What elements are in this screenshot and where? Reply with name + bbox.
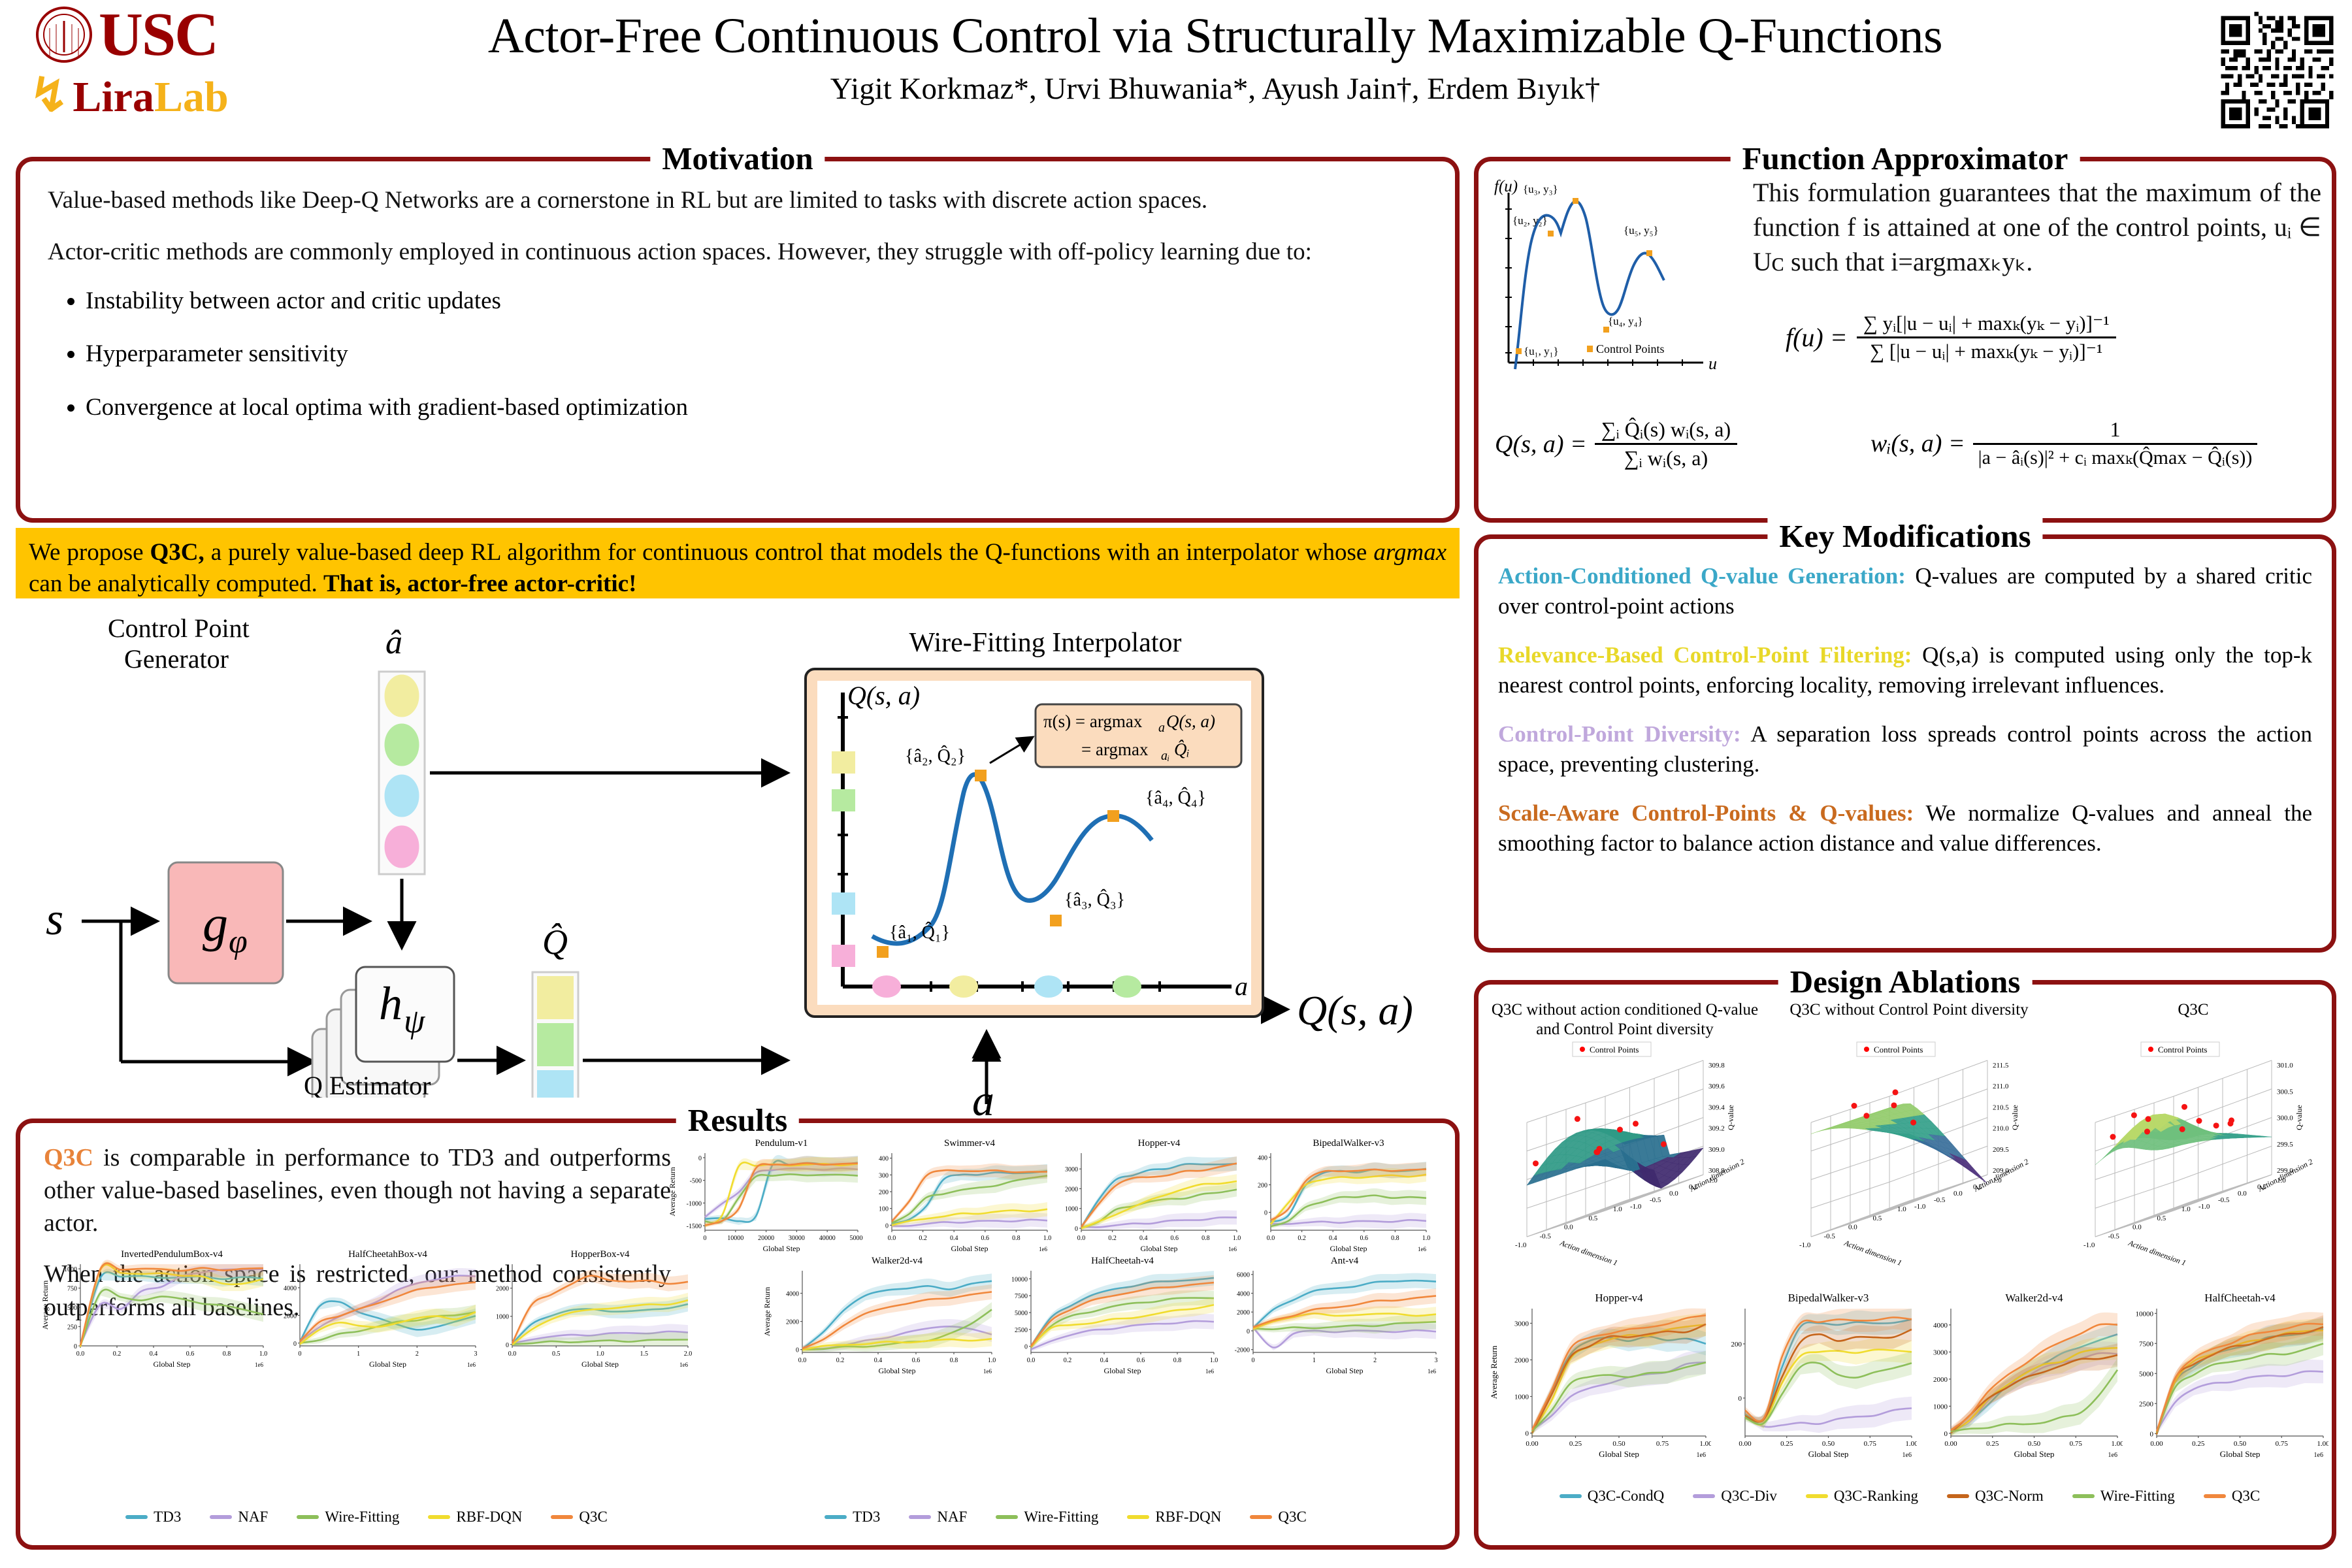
key-modifications-title: Key Modifications [1767, 517, 2042, 555]
legend-label: NAF [238, 1509, 268, 1526]
ablation-legend-item: Q3C-Norm [1947, 1488, 2044, 1505]
legend-color-swatch [1806, 1494, 1828, 1498]
surface-3d-plot: Control Points301.0300.5300.0299.5299.0Q… [2056, 1041, 2330, 1276]
legend-label: Q3C [579, 1509, 607, 1526]
chart-title: Hopper-v4 [1595, 1292, 1643, 1304]
highlight-q3c-label: Q3C, [150, 539, 204, 566]
y-tick-label: -1500 [687, 1223, 702, 1230]
formula-fu-lhs: f(u) = [1786, 322, 1848, 353]
chart-title: HalfCheetahBox-v4 [348, 1249, 427, 1260]
x-tick-label: 0.8 [1173, 1357, 1182, 1364]
results-legend-item: Q3C [1250, 1509, 1306, 1526]
highlight-bold-tail: That is, actor-free actor-critic! [323, 570, 636, 597]
y-tick-label: 4000 [284, 1285, 297, 1292]
x-tick-label: 1.0 [1043, 1235, 1052, 1242]
x-tick-label: 0.25 [1986, 1440, 1999, 1448]
control-point-marker [2213, 1122, 2219, 1128]
surface-legend: Control Points [1857, 1042, 1935, 1056]
y-tick-label: 0 [74, 1343, 77, 1350]
formula-w-denominator: |a − âᵢ(s)|² + cᵢ maxₖ(Q̂max − Q̂ᵢ(s)) [1973, 445, 2258, 470]
x-axis-unit: 1e6 [1039, 1246, 1047, 1252]
results-legend-item: RBF-DQN [1127, 1509, 1221, 1526]
x-tick-label: 0.0 [798, 1357, 807, 1364]
x-axis-label: Global Step [1326, 1366, 1364, 1375]
surface-plot-title: Q3C [2056, 1000, 2330, 1041]
y-tick-label: 7500 [2139, 1340, 2154, 1348]
wf-policy-line-2: = argmax [1081, 740, 1149, 759]
formula-fu-numerator: ∑ yᵢ[|u − uᵢ| + maxₖ(yₖ − yᵢ)]⁻¹ [1857, 310, 2116, 336]
key-modification-heading: Scale-Aware Control-Points & Q-values: [1498, 800, 1914, 826]
y-tick-label: 0 [885, 1222, 889, 1230]
control-point-marker [2144, 1129, 2150, 1135]
highlight-text-before: We propose [29, 539, 150, 566]
x-tick-label: 0.0 [1267, 1235, 1275, 1242]
legend-label: Q3C-Div [1721, 1488, 1777, 1505]
surface-z-axis-label: Q-value [2295, 1105, 2304, 1130]
ablation-legend-item: Q3C-Ranking [1806, 1488, 1918, 1505]
results-legend-item: Q3C [551, 1509, 607, 1526]
surface-x-axis-label: Action dimension 1 [2127, 1238, 2187, 1267]
surface-z-tick-label: 309.8 [1708, 1062, 1725, 1070]
line-chart: Pendulum-v10-500-1000-150001000020000300… [667, 1136, 863, 1252]
line-chart: HalfCheetah-v40250050007500100000.000.25… [2123, 1292, 2328, 1458]
a-hat-slot-green [385, 724, 419, 766]
line-chart: BipedalWalker-v302004000.00.20.40.60.81.… [1242, 1136, 1431, 1252]
wf-point-label-4: {â₄, Q̂₄} [1145, 787, 1206, 808]
chart-cell: Walker2d-v4010002000300040000.000.250.50… [1917, 1292, 2123, 1462]
title-block: Actor-Free Continuous Control via Struct… [248, 8, 2182, 106]
control-point-marker [2180, 1126, 2185, 1132]
x-axis-label: Global Step [1330, 1244, 1367, 1252]
x-tick-label: 0.4 [1100, 1357, 1109, 1364]
surface-y-tick-label: -0.5 [2218, 1196, 2230, 1204]
chart-cell: HalfCheetah-v40250050007500100000.000.25… [2123, 1292, 2328, 1462]
y-tick-label: 0 [796, 1347, 799, 1354]
x-tick-label: 0.8 [223, 1350, 231, 1358]
y-tick-label: 0 [1024, 1344, 1028, 1351]
x-tick-label: 0.5 [552, 1350, 561, 1358]
formula-fu: f(u) = ∑ yᵢ[|u − uᵢ| + maxₖ(yₖ − yᵢ)]⁻¹ … [1786, 310, 2116, 365]
results-title: Results [676, 1102, 799, 1139]
legend-color-swatch [2204, 1494, 2226, 1498]
legend-color-swatch [909, 1515, 931, 1519]
x-tick-label: 0.0 [1027, 1357, 1036, 1364]
x-axis-unit: 1e6 [467, 1362, 476, 1368]
highlight-text-mid: a purely value-based deep RL algorithm f… [204, 539, 1374, 566]
key-modification-item: Relevance-Based Control-Point Filtering:… [1498, 640, 2312, 700]
chart-title: Walker2d-v4 [872, 1256, 923, 1266]
wf-x-axis-label: a [1235, 972, 1248, 1001]
results-legend-item: NAF [210, 1509, 268, 1526]
control-point-legend-marker [2148, 1047, 2153, 1052]
line-chart: InvertedPendulumBox-v4025050075010000.00… [40, 1247, 269, 1368]
y-tick-label: 500 [67, 1305, 77, 1312]
legend-color-swatch [428, 1515, 450, 1519]
y-tick-label: -2000 [1235, 1347, 1250, 1354]
x-axis-label: Global Step [2014, 1449, 2055, 1458]
fu-y-axis-label: f(u) [1494, 178, 1518, 195]
x-tick-label: 0.25 [1780, 1440, 1793, 1448]
fu-point-label-3: {u₃, y₃} [1523, 183, 1558, 195]
wire-fitting-interpolator: Wire-Fitting Interpolator [774, 627, 1316, 1019]
chart-cell: InvertedPendulumBox-v4025050075010000.00… [40, 1247, 269, 1365]
q-estimator-title: Q Estimator [304, 1071, 431, 1098]
x-axis-unit: 1e6 [679, 1362, 688, 1368]
results-panel: Results Q3C is comparable in performance… [16, 1119, 1460, 1550]
surface-x-tick-label: 0.0 [1848, 1224, 1857, 1232]
legend-color-swatch [825, 1515, 847, 1519]
x-tick-label: 0.6 [1137, 1357, 1145, 1364]
x-axis-unit: 1e6 [983, 1368, 992, 1375]
x-tick-label: 1.00 [1699, 1440, 1711, 1448]
q-hat-label: Q̂ [542, 923, 568, 962]
x-tick-label: 2 [1373, 1357, 1377, 1364]
chart-confidence-band [1532, 1351, 1706, 1435]
surface-x-tick-label: 1.0 [2181, 1205, 2191, 1213]
svg-text:aᵢ: aᵢ [1161, 749, 1169, 763]
design-ablations-surface-row: Q3C without action conditioned Q-value a… [1488, 1000, 2330, 1281]
chart-title: Walker2d-v4 [2005, 1292, 2063, 1304]
x-tick-label: 0.75 [2070, 1440, 2083, 1448]
chart-title: Swimmer-v4 [944, 1138, 996, 1149]
surface-z-tick-label: 211.0 [1993, 1083, 2009, 1090]
ablation-legend-item: Q3C [2204, 1488, 2260, 1505]
control-point-marker [1661, 1141, 1667, 1147]
fu-point-label-2: {u₂, y₂} [1512, 214, 1548, 227]
y-tick-label: 2000 [1237, 1309, 1250, 1316]
surface-x-tick-label: -0.5 [2108, 1232, 2120, 1240]
x-tick-label: 1.00 [2111, 1440, 2123, 1448]
formula-w-lhs: wᵢ(s, a) = [1870, 429, 1965, 458]
x-tick-label: 1 [1313, 1357, 1316, 1364]
x-tick-label: 0.50 [1612, 1440, 1625, 1448]
legend-label: TD3 [853, 1509, 880, 1526]
y-tick-label: 0 [1264, 1210, 1267, 1217]
chart-cell: HalfCheetahBox-v40200040000123Global Ste… [269, 1247, 481, 1365]
ablation-legend-item: Q3C-Div [1693, 1488, 1777, 1505]
x-axis-unit: 1e6 [255, 1362, 263, 1368]
surface-x-tick-label: -1.0 [1515, 1241, 1527, 1249]
y-tick-label: 0 [506, 1342, 509, 1349]
legend-color-swatch [1127, 1515, 1149, 1519]
chart-title: Ant-v4 [1331, 1256, 1359, 1266]
surface-x-tick-label: -0.5 [1540, 1232, 1552, 1240]
x-tick-label: 1.0 [1210, 1357, 1218, 1364]
chart-confidence-band [705, 1156, 858, 1228]
results-legend-item: TD3 [125, 1509, 181, 1526]
wf-ahat-marker-green [1113, 975, 1141, 998]
surface-z-tick-label: 301.0 [2277, 1062, 2293, 1070]
legend-color-swatch [297, 1515, 319, 1519]
wf-ahat-marker-blue [1034, 975, 1063, 998]
action-input-arrow-group: a [967, 1019, 1137, 1111]
control-point-marker [1891, 1102, 1897, 1108]
x-axis-label: Global Step [879, 1366, 916, 1375]
y-tick-label: 6000 [1237, 1272, 1250, 1279]
motivation-paragraph-1: Value-based methods like Deep-Q Networks… [48, 185, 1428, 217]
line-chart: Walker2d-v4010002000300040000.000.250.50… [1917, 1292, 2123, 1458]
y-tick-label: 1000 [1933, 1403, 1948, 1411]
highlight-argmax-word: argmax [1373, 539, 1446, 566]
x-axis-unit: 1e6 [1428, 1368, 1436, 1375]
chart-title: Hopper-v4 [1138, 1138, 1181, 1149]
y-axis-label: Average Return [762, 1287, 772, 1336]
control-point-marker [2131, 1112, 2137, 1118]
y-tick-label: 0 [698, 1155, 702, 1162]
x-tick-label: 0.2 [113, 1350, 122, 1358]
surface-x-tick-label: 0.0 [1564, 1224, 1573, 1232]
x-tick-label: 0.8 [950, 1357, 958, 1364]
x-tick-label: 0.75 [2276, 1440, 2289, 1448]
x-tick-label: 0.00 [2150, 1440, 2163, 1448]
wf-y-axis-label: Q(s, a) [847, 681, 920, 710]
chart-title: HalfCheetah-v4 [2204, 1292, 2276, 1304]
chart-cell: Swimmer-v401002003004000.00.20.40.60.81.… [863, 1136, 1053, 1247]
surface-y-tick-label: -1.0 [1630, 1203, 1642, 1211]
y-tick-label: 0 [293, 1341, 297, 1348]
list-item: Convergence at local optima with gradien… [86, 389, 1428, 426]
legend-label: Wire-Fitting [1024, 1509, 1098, 1526]
control-point-marker [1533, 1160, 1539, 1166]
ablation-legend-item: Wire-Fitting [2072, 1488, 2175, 1505]
legend-label: NAF [937, 1509, 967, 1526]
x-tick-label: 2 [416, 1350, 419, 1358]
y-tick-label: -500 [690, 1178, 702, 1185]
g-phi-label: g [203, 895, 228, 952]
chart-title: HalfCheetah-v4 [1091, 1256, 1154, 1266]
line-chart: Ant-v4-200002000400060000123Global Step1… [1219, 1254, 1441, 1375]
legend-label: Q3C [1278, 1509, 1306, 1526]
chart-cell: BipedalWalker-v302004000.00.20.40.60.81.… [1242, 1136, 1431, 1247]
wf-point-label-3: {â₃, Q̂₃} [1064, 889, 1125, 910]
x-axis-label: Global Step [369, 1360, 406, 1368]
fu-control-point-1 [1516, 348, 1522, 354]
legend-label: Wire-Fitting [325, 1509, 399, 1526]
fu-point-label-4: {u₄, y₄} [1608, 315, 1643, 327]
x-tick-label: 0.50 [1822, 1440, 1835, 1448]
surface-z-tick-label: 309.6 [1708, 1083, 1725, 1090]
function-approximator-text: This formulation guarantees that the max… [1753, 176, 2321, 279]
legend-label: Q3C-CondQ [1588, 1488, 1665, 1505]
y-tick-label: 4000 [1237, 1290, 1250, 1298]
x-tick-label: 0.25 [2192, 1440, 2205, 1448]
surface-z-tick-label: 309.2 [1708, 1125, 1725, 1133]
surface-3d-plot: Control Points211.5211.0210.5210.0209.52… [1772, 1041, 2046, 1276]
fu-control-point-4 [1603, 327, 1609, 333]
x-axis-label: Global Step [581, 1360, 619, 1368]
control-point-marker [2110, 1134, 2116, 1140]
surface-x-tick-label: 0.5 [1589, 1215, 1598, 1222]
y-tick-label: 1000 [496, 1314, 509, 1321]
results-legend-item: Wire-Fitting [996, 1509, 1098, 1526]
results-charts-row-2: Walker2d-v40200040000.00.20.40.60.81.0Gl… [762, 1254, 1445, 1365]
y-axis-label: Average Return [1489, 1345, 1499, 1399]
y-tick-label: 400 [1258, 1154, 1267, 1162]
x-axis-unit: 1e6 [2314, 1452, 2323, 1458]
legend-color-swatch [125, 1515, 148, 1519]
fu-control-point-2 [1548, 231, 1554, 237]
key-modification-heading: Control-Point Diversity: [1498, 721, 1741, 747]
wf-ahat-marker-yellow [949, 975, 978, 998]
control-point-marker [1852, 1103, 1857, 1109]
formula-w: wᵢ(s, a) = 1 |a − âᵢ(s)|² + cᵢ maxₖ(Q̂ma… [1870, 416, 2257, 470]
chart-title: BipedalWalker-v3 [1313, 1138, 1384, 1149]
usc-logo: USC [36, 7, 218, 63]
design-ablations-title: Design Ablations [1778, 963, 2033, 1000]
x-tick-label: 1.0 [1233, 1235, 1241, 1242]
chart-title: Pendulum-v1 [755, 1138, 808, 1149]
x-tick-label: 0.00 [1944, 1440, 1957, 1448]
results-charts-row-3: InvertedPendulumBox-v4025050075010000.00… [40, 1247, 693, 1365]
svg-text:Q(s, a): Q(s, a) [1166, 711, 1215, 731]
x-axis-label: Global Step [951, 1244, 988, 1252]
fu-point-label-1: {u₁, y₁} [1524, 345, 1559, 357]
chart-title: HopperBox-v4 [571, 1249, 630, 1260]
y-tick-label: 2500 [2139, 1400, 2154, 1408]
legend-color-swatch [2072, 1494, 2095, 1498]
surface-plot-cell: Q3C without Control Point diversityContr… [1772, 1000, 2046, 1281]
usc-wordmark: USC [99, 7, 218, 63]
surface-z-tick-label: 300.5 [2277, 1088, 2293, 1096]
y-axis-label: Average Return [41, 1281, 50, 1330]
y-tick-label: 5000 [1015, 1310, 1028, 1317]
svg-text:Q̂ᵢ: Q̂ᵢ [1174, 740, 1190, 759]
key-modifications-panel: Key Modifications Action-Conditioned Q-v… [1474, 534, 2336, 953]
surface-z-tick-label: 211.5 [1993, 1062, 2009, 1070]
surface-z-tick-label: 209.5 [1993, 1146, 2009, 1154]
wf-policy-line-1: π(s) = argmax [1043, 711, 1143, 731]
line-chart: HalfCheetah-v40250050007500100000.00.20.… [997, 1254, 1219, 1375]
x-tick-label: 1.00 [1905, 1440, 1917, 1448]
x-tick-label: 0.75 [1864, 1440, 1877, 1448]
x-tick-label: 0.6 [186, 1350, 195, 1358]
y-tick-label: 250 [67, 1324, 77, 1331]
wf-point-label-2: {â₂, Q̂₂} [905, 745, 966, 766]
cpg-title-line1: Control Point [108, 614, 250, 643]
x-tick-label: 0.2 [836, 1357, 845, 1364]
svg-text:a: a [1158, 721, 1165, 735]
control-point-marker [2197, 1118, 2202, 1124]
surface-x-tick-label: 0.5 [2157, 1215, 2166, 1222]
key-modification-item: Action-Conditioned Q-value Generation: Q… [1498, 561, 2312, 621]
fu-legend-label: Control Points [1596, 342, 1665, 355]
y-tick-label: 300 [879, 1172, 889, 1179]
control-point-marker [1593, 1149, 1599, 1155]
key-modification-item: Scale-Aware Control-Points & Q-values: W… [1498, 798, 2312, 858]
q-hat-slot-blue [537, 1070, 574, 1098]
page-title: Actor-Free Continuous Control via Struct… [248, 8, 2182, 65]
legend-label: Wire-Fitting [2100, 1488, 2175, 1505]
x-tick-label: 0 [704, 1235, 707, 1242]
chart-title: InvertedPendulumBox-v4 [121, 1249, 223, 1260]
control-point-marker [1575, 1116, 1580, 1122]
wf-ahat-marker-pink [872, 975, 901, 998]
wf-qhat-marker-pink [832, 945, 855, 967]
surface-y-tick-label: 0.0 [2238, 1190, 2247, 1198]
x-tick-label: 0.2 [1064, 1357, 1072, 1364]
q-hat-slot-yellow [537, 976, 574, 1019]
design-ablations-charts-row: Hopper-v401000200030000.000.250.500.751.… [1489, 1292, 2332, 1462]
y-tick-label: 3000 [1065, 1166, 1078, 1173]
y-tick-label: 0 [1739, 1395, 1742, 1403]
x-tick-label: 0.0 [1077, 1235, 1086, 1242]
y-tick-label: 200 [879, 1189, 889, 1196]
x-tick-label: 3 [1435, 1357, 1438, 1364]
wf-control-point-2 [975, 770, 987, 781]
a-hat-slot-pink [385, 826, 419, 868]
h-psi-label: h [379, 977, 402, 1030]
surface-plot-cell: Q3C without action conditioned Q-value a… [1488, 1000, 1762, 1281]
surface-y-tick-label: -0.5 [1650, 1196, 1661, 1204]
y-tick-label: 7500 [1015, 1293, 1028, 1300]
y-tick-label: 5000 [2139, 1370, 2154, 1378]
chart-cell: HopperBox-v40100020000.00.51.01.52.0Glob… [481, 1247, 693, 1365]
x-tick-label: 0.8 [1012, 1235, 1021, 1242]
y-tick-label: 2500 [1015, 1327, 1028, 1334]
x-tick-label: 1.00 [2317, 1440, 2328, 1448]
lira-lab-logo: ↯ Lira Lab [29, 72, 229, 119]
x-tick-label: 0 [1252, 1357, 1255, 1364]
chart-cell: Walker2d-v40200040000.00.20.40.60.81.0Gl… [762, 1254, 997, 1365]
wf-qhat-marker-green [832, 789, 855, 811]
control-point-marker [1863, 1113, 1869, 1119]
y-tick-label: 2000 [1514, 1356, 1529, 1364]
motivation-title: Motivation [650, 140, 825, 177]
line-chart: HopperBox-v40100020000.00.51.01.52.0Glob… [481, 1247, 693, 1368]
line-chart: BipedalWalker-v302000.000.250.500.751.00… [1711, 1292, 1917, 1458]
fu-point-label-5: {u₅, y₅} [1624, 224, 1659, 237]
control-point-legend-marker [1864, 1047, 1869, 1052]
function-approximator-title: Function Approximator [1731, 140, 2080, 177]
chart-cell: Hopper-v401000200030000.000.250.500.751.… [1489, 1292, 1711, 1462]
x-axis-unit: 1e6 [1418, 1246, 1426, 1252]
y-tick-label: 0 [2150, 1430, 2154, 1438]
x-axis-label: Global Step [1141, 1244, 1178, 1252]
x-tick-label: 0.6 [981, 1235, 990, 1242]
results-q3c-inline-label: Q3C [44, 1144, 93, 1171]
control-point-marker [2146, 1116, 2151, 1122]
x-axis-unit: 1e6 [2108, 1452, 2117, 1458]
y-tick-label: 2000 [1933, 1376, 1948, 1384]
usc-seal-icon [36, 7, 92, 63]
results-legend-item: TD3 [825, 1509, 880, 1526]
x-tick-label: 0.00 [1526, 1440, 1539, 1448]
control-point-legend-label: Control Points [2158, 1045, 2208, 1054]
x-axis-label: Global Step [2220, 1449, 2261, 1458]
surface-z-tick-label: 210.0 [1993, 1125, 2009, 1133]
x-tick-label: 50000 [850, 1235, 864, 1242]
control-point-marker [2229, 1117, 2234, 1123]
x-axis-label: Global Step [1599, 1449, 1639, 1458]
x-axis-label: Global Step [1808, 1449, 1849, 1458]
fu-plot: f(u) u {u₁, y₁} {u₂, y₂} {u₃, y₃} [1488, 173, 1742, 389]
y-tick-label: 100 [879, 1206, 889, 1213]
results-legend-left: TD3NAFWire-FittingRBF-DQNQ3C [40, 1509, 693, 1526]
x-tick-label: 0.6 [1360, 1235, 1369, 1242]
control-point-legend-label: Control Points [1590, 1045, 1639, 1054]
surface-x-tick-label: 0.0 [2132, 1224, 2142, 1232]
surface-x-tick-label: 0.5 [1873, 1215, 1882, 1222]
surface-x-tick-label: -1.0 [1799, 1241, 1811, 1249]
y-tick-label: -1000 [687, 1200, 702, 1207]
fu-legend-swatch [1587, 346, 1593, 352]
results-legend-item: RBF-DQN [428, 1509, 522, 1526]
y-tick-label: 3000 [1933, 1348, 1948, 1356]
legend-label: Q3C-Norm [1975, 1488, 2044, 1505]
surface-y-tick-label: 0.0 [1953, 1190, 1963, 1198]
y-tick-label: 1000 [1065, 1206, 1078, 1213]
control-point-legend-marker [1580, 1047, 1585, 1052]
